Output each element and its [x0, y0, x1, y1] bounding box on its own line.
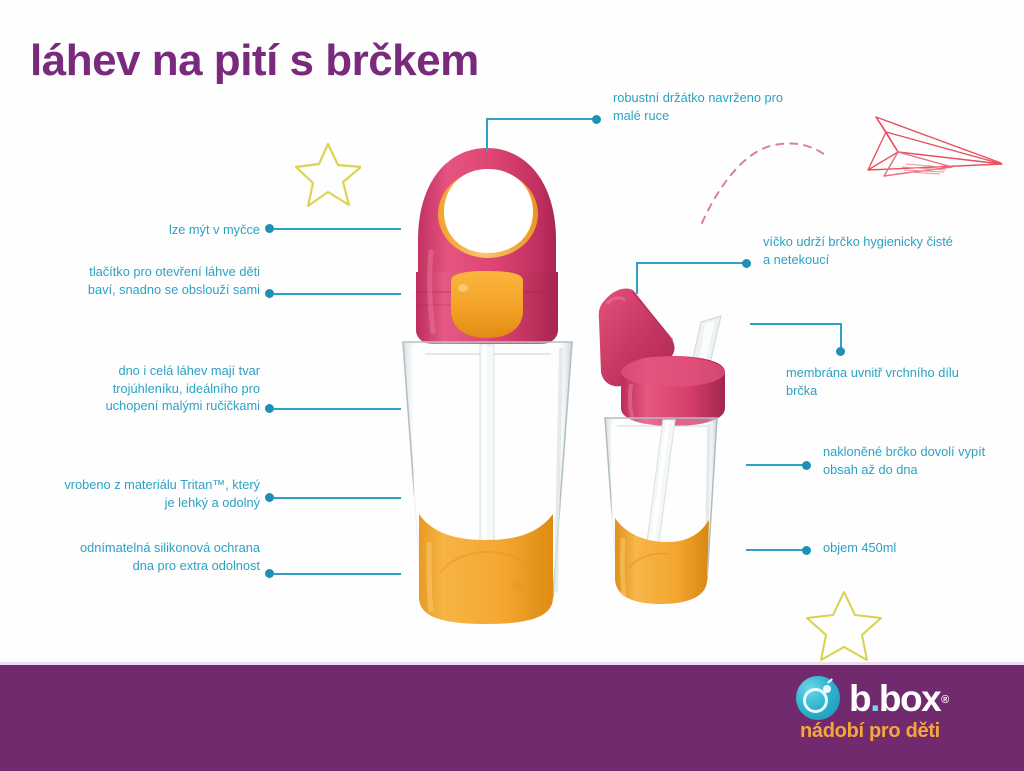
callout-robust-handle: robustní držátko navrženo pro malé ruce	[613, 89, 803, 124]
callout-line-angled-straw	[746, 464, 804, 466]
callout-button-open: tlačítko pro otevření láhve děti baví, s…	[60, 263, 260, 298]
secondary-bottle-image	[585, 280, 765, 630]
main-bottle-image	[385, 142, 590, 647]
star-bottom-icon	[805, 588, 883, 662]
infographic-canvas: láhev na pití s brčkem	[0, 0, 1024, 768]
bubble-dot-icon	[823, 685, 831, 693]
callout-line-button-open	[273, 293, 401, 295]
bbox-bubble-icon	[796, 676, 840, 720]
callout-line-lid-hygiene	[636, 262, 746, 264]
brand-dot: .	[870, 678, 879, 719]
callout-membrane: membrána uvnitř vrchního dílu brčka	[786, 364, 986, 399]
callout-line-membrane	[750, 323, 842, 325]
callout-line-tritan-material	[273, 497, 401, 499]
brand-second: box	[879, 678, 940, 719]
bubble-tick-icon	[827, 678, 833, 683]
callout-line-dishwasher	[273, 228, 401, 230]
callout-dot-lid-hygiene	[742, 259, 751, 268]
brand-tagline: nádobí pro děti	[800, 720, 940, 743]
callout-line-silicone-base	[273, 573, 401, 575]
brand-first: b	[849, 678, 870, 719]
brand-logo: b.box® nádobí pro děti	[796, 672, 996, 756]
page-title: láhev na pití s brčkem	[30, 36, 479, 86]
callout-volume: objem 450ml	[823, 539, 1013, 557]
brand-wordmark: b.box®	[849, 680, 940, 717]
callout-line-triangle-shape	[273, 408, 401, 410]
callout-line-volume	[746, 549, 804, 551]
callout-dot-robust-handle	[592, 115, 601, 124]
callout-line-robust-handle	[486, 118, 596, 120]
callout-silicone-base: odnímatelná silikonová ochrana dna pro e…	[60, 539, 260, 574]
plane-trail-icon	[700, 115, 860, 225]
brand-trademark: ®	[941, 682, 949, 719]
callout-elbow-v-membrane	[840, 323, 842, 349]
callout-dot-membrane	[836, 347, 845, 356]
callout-dot-angled-straw	[802, 461, 811, 470]
callout-triangle-shape: dno i celá láhev mají tvar trojúhleníku,…	[60, 362, 260, 415]
callout-lid-hygiene: víčko udrží brčko hygienicky čisté a net…	[763, 233, 963, 268]
callout-elbow-v-robust-handle	[486, 118, 488, 152]
paper-plane-icon	[846, 108, 1006, 180]
callout-angled-straw: nakloněné brčko dovolí vypít obsah až do…	[823, 443, 1013, 478]
callout-tritan-material: vrobeno z materiálu Tritan™, který je le…	[60, 476, 260, 511]
logo-row: b.box®	[796, 676, 940, 720]
callout-dishwasher: lze mýt v myčce	[70, 221, 260, 239]
callout-dot-volume	[802, 546, 811, 555]
callout-elbow-v-lid-hygiene	[636, 262, 638, 294]
star-top-icon	[295, 138, 361, 208]
